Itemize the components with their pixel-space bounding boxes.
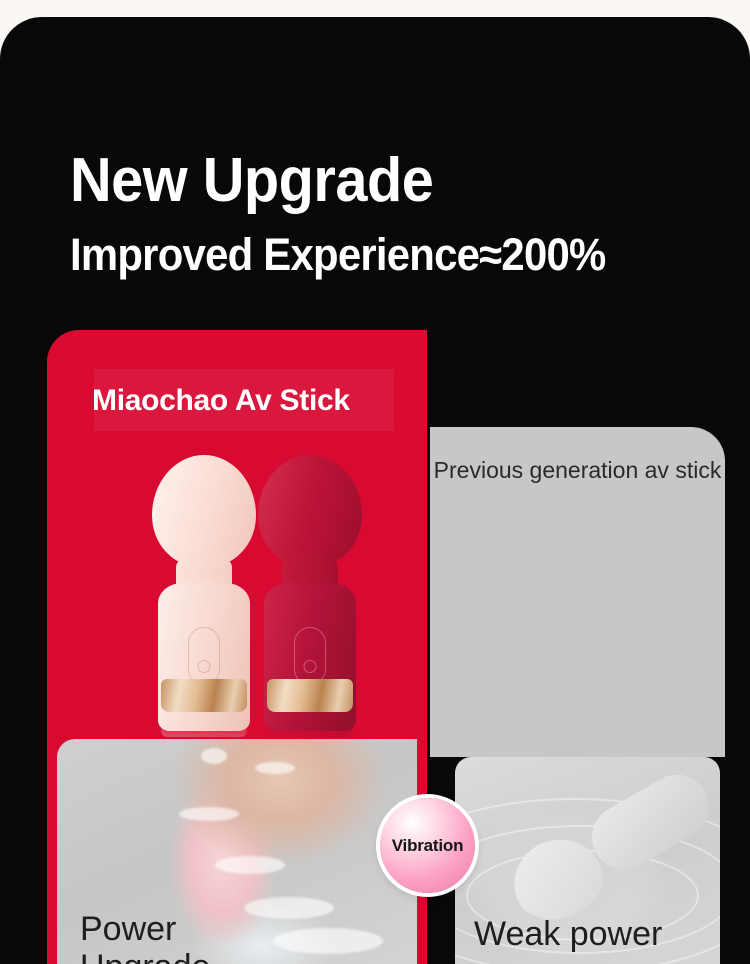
wand-reflection <box>161 713 247 737</box>
water-splash <box>179 807 239 821</box>
water-splash <box>273 928 383 954</box>
page-subtitle: Improved Experience≈200% <box>70 232 605 277</box>
product-title: Miaochao Av Stick <box>92 384 350 418</box>
wand-gold-base-icon <box>267 679 353 712</box>
wand-control-panel-icon <box>188 627 220 685</box>
promo-poster: New Upgrade Improved Experience≈200% Pre… <box>0 17 750 964</box>
wand-head-icon <box>258 455 362 567</box>
wand-power-button-icon <box>304 660 317 673</box>
water-splash <box>201 748 227 764</box>
water-splash <box>255 762 295 774</box>
comparison-panel: Previous generation av stick <box>430 427 725 757</box>
feature-label-weak-power: Weak power <box>474 915 662 954</box>
wand-gold-base-icon <box>161 679 247 712</box>
wand-power-button-icon <box>198 660 211 673</box>
status-badge-vibration: Vibration <box>380 798 475 893</box>
status-badge-label: Vibration <box>392 836 464 856</box>
comparison-panel-title: Previous generation av stick <box>430 455 725 485</box>
wand-control-panel-icon <box>294 627 326 685</box>
wand-head-icon <box>152 455 256 567</box>
water-splash <box>244 897 334 919</box>
feature-label-power-upgrade: Power Upgrade <box>80 910 210 964</box>
page-title: New Upgrade <box>70 150 433 212</box>
product-image-new-pink <box>150 455 258 713</box>
water-splash <box>215 856 285 874</box>
wand-reflection <box>267 713 353 737</box>
product-image-new-red <box>256 455 364 713</box>
